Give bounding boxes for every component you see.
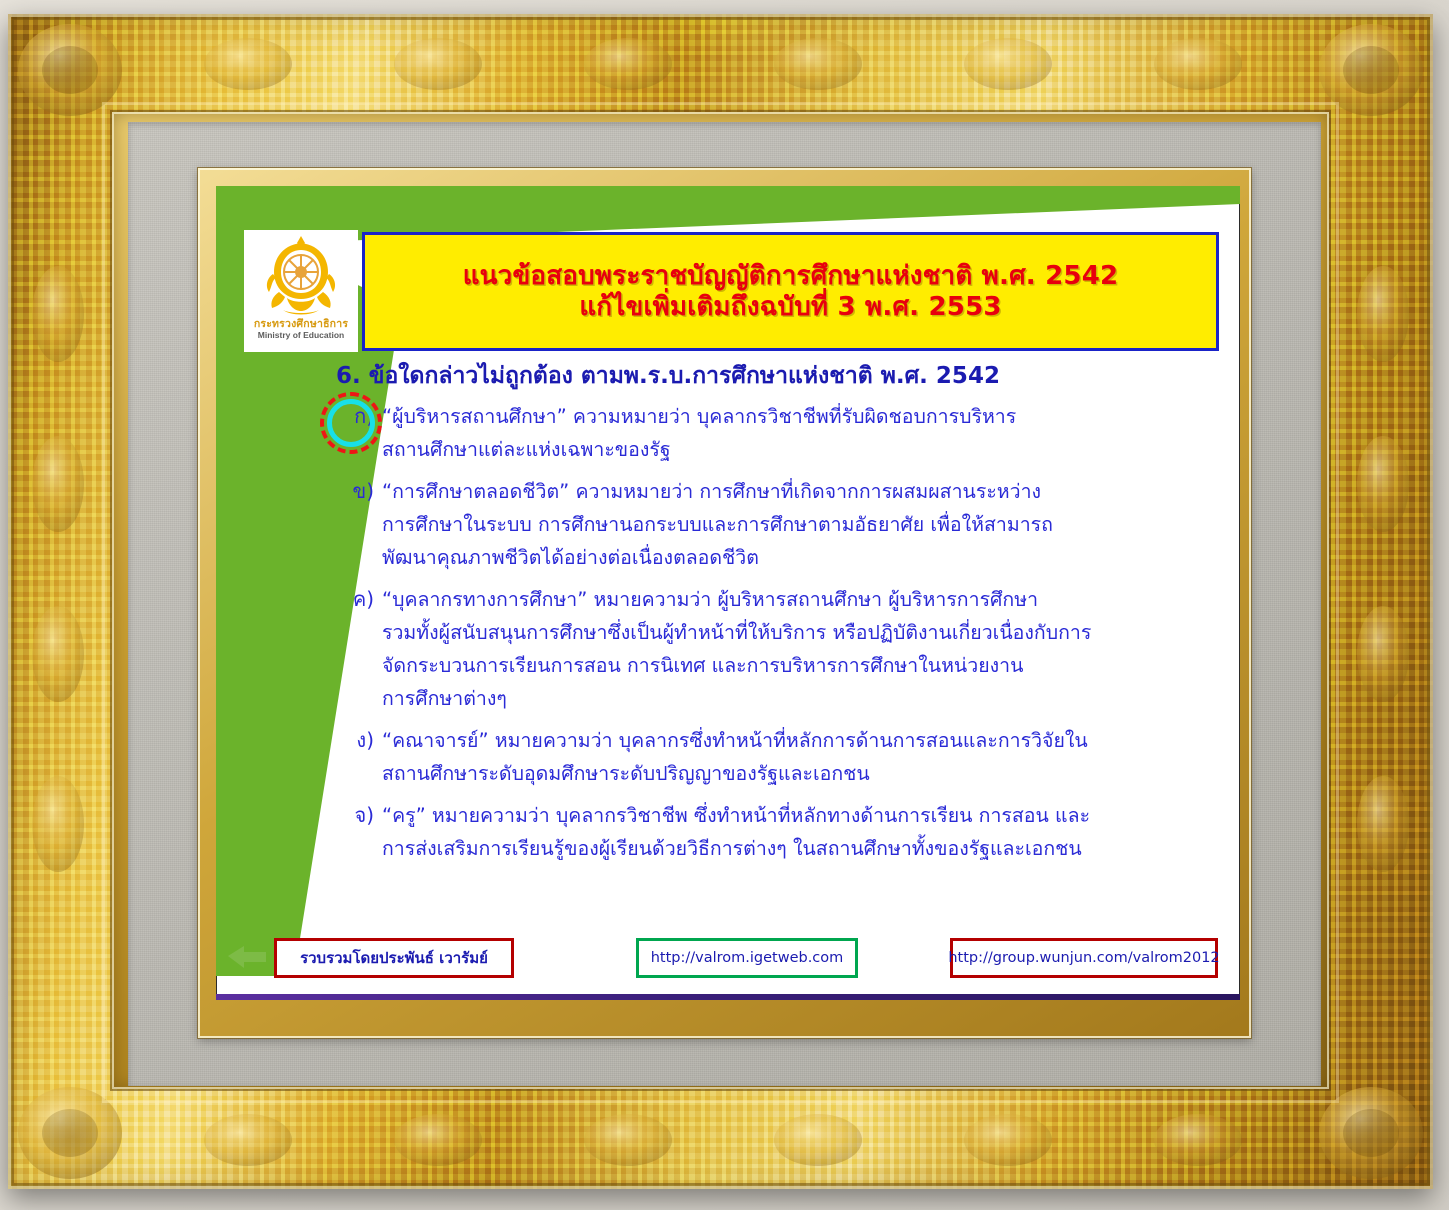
answer-choice-list: ก) “ผู้บริหารสถานศึกษา” ความหมายว่า บุคล… — [324, 400, 1229, 874]
logo-thai-label: กระทรวงศึกษาธิการ — [254, 319, 348, 330]
red-dashed-highlight-ring-icon — [320, 392, 382, 454]
choice-marker-kho2[interactable]: ค) — [324, 583, 382, 616]
choice-line: “บุคลากรทางการศึกษา” หมายความว่า ผู้บริห… — [382, 583, 1229, 616]
choice-text-ka: “ผู้บริหารสถานศึกษา” ความหมายว่า บุคลากร… — [382, 400, 1229, 466]
choice-line: “ผู้บริหารสถานศึกษา” ความหมายว่า บุคลากร… — [382, 400, 1229, 433]
title-line-1: แนวข้อสอบพระราชบัญญัติการศึกษาแห่งชาติ พ… — [463, 261, 1119, 292]
answer-choice-kho2[interactable]: ค) “บุคลากรทางการศึกษา” หมายความว่า ผู้บ… — [324, 583, 1229, 715]
choice-line: สถานศึกษาระดับอุดมศึกษาระดับปริญญาของรัฐ… — [382, 757, 1229, 790]
logo-english-label: Ministry of Education — [258, 331, 344, 340]
answer-choice-cho[interactable]: จ) “ครู” หมายความว่า บุคลากรวิชาชีพ ซึ่ง… — [324, 799, 1229, 865]
choice-line: จัดกระบวนการเรียนการสอน การนิเทศ และการบ… — [382, 649, 1229, 682]
choice-marker-ka[interactable]: ก) — [324, 400, 382, 433]
choice-line: “คณาจารย์” หมายความว่า บุคลากรซึ่งทำหน้า… — [382, 724, 1229, 757]
dharma-wheel-emblem-icon — [263, 234, 339, 318]
choice-line: “ครู” หมายความว่า บุคลากรวิชาชีพ ซึ่งทำห… — [382, 799, 1229, 832]
choice-marker-ngo[interactable]: ง) — [324, 724, 382, 757]
presentation-slide: กระทรวงศึกษาธิการ Ministry of Education … — [216, 186, 1240, 1000]
answer-choice-ka[interactable]: ก) “ผู้บริหารสถานศึกษา” ความหมายว่า บุคล… — [324, 400, 1229, 466]
choice-label-kho: ข) — [353, 479, 374, 503]
choice-line: พัฒนาคุณภาพชีวิตได้อย่างต่อเนื่องตลอดชีว… — [382, 541, 1229, 574]
choice-label-kho2: ค) — [353, 587, 374, 611]
ministry-logo: กระทรวงศึกษาธิการ Ministry of Education — [244, 230, 358, 352]
choice-label-cho: จ) — [354, 803, 374, 827]
choice-text-kho: “การศึกษาตลอดชีวิต” ความหมายว่า การศึกษา… — [382, 475, 1229, 574]
choice-line: การศึกษาต่างๆ — [382, 682, 1229, 715]
answer-choice-ngo[interactable]: ง) “คณาจารย์” หมายความว่า บุคลากรซึ่งทำห… — [324, 724, 1229, 790]
choice-marker-cho[interactable]: จ) — [324, 799, 382, 832]
slide-footer: รวบรวมโดยประพันธ์ เวารัมย์ http://valrom… — [216, 938, 1240, 982]
footer-url-1[interactable]: http://valrom.igetweb.com — [651, 950, 844, 966]
choice-text-ngo: “คณาจารย์” หมายความว่า บุคลากรซึ่งทำหน้า… — [382, 724, 1229, 790]
footer-url-box-1[interactable]: http://valrom.igetweb.com — [636, 938, 858, 978]
choice-line: “การศึกษาตลอดชีวิต” ความหมายว่า การศึกษา… — [382, 475, 1229, 508]
choice-text-kho2: “บุคลากรทางการศึกษา” หมายความว่า ผู้บริห… — [382, 583, 1229, 715]
title-banner: แนวข้อสอบพระราชบัญญัติการศึกษาแห่งชาติ พ… — [362, 232, 1219, 351]
slide-bottom-edge — [216, 994, 1240, 1000]
choice-line: สถานศึกษาแต่ละแห่งเฉพาะของรัฐ — [382, 433, 1229, 466]
answer-choice-kho[interactable]: ข) “การศึกษาตลอดชีวิต” ความหมายว่า การศึ… — [324, 475, 1229, 574]
question-heading: 6. ข้อใดกล่าวไม่ถูกต้อง ตามพ.ร.บ.การศึกษ… — [336, 362, 1216, 391]
choice-label-ngo: ง) — [356, 728, 374, 752]
screenshot-stage: กระทรวงศึกษาธิการ Ministry of Education … — [0, 0, 1449, 1210]
title-line-2: แก้ไขเพิ่มเติมถึงฉบับที่ 3 พ.ศ. 2553 — [579, 292, 1001, 323]
choice-line: การศึกษาในระบบ การศึกษานอกระบบและการศึกษ… — [382, 508, 1229, 541]
choice-marker-kho[interactable]: ข) — [324, 475, 382, 508]
footer-url-2[interactable]: http://group.wunjun.com/valrom2012 — [948, 950, 1219, 966]
footer-credit-box: รวบรวมโดยประพันธ์ เวารัมย์ — [274, 938, 514, 978]
footer-url-box-2[interactable]: http://group.wunjun.com/valrom2012 — [950, 938, 1218, 978]
choice-text-cho: “ครู” หมายความว่า บุคลากรวิชาชีพ ซึ่งทำห… — [382, 799, 1229, 865]
choice-line: รวมทั้งผู้สนับสนุนการศึกษาซึ่งเป็นผู้ทำห… — [382, 616, 1229, 649]
choice-line: การส่งเสริมการเรียนรู้ของผู้เรียนด้วยวิธ… — [382, 832, 1229, 865]
footer-credit-text: รวบรวมโดยประพันธ์ เวารัมย์ — [300, 946, 488, 970]
